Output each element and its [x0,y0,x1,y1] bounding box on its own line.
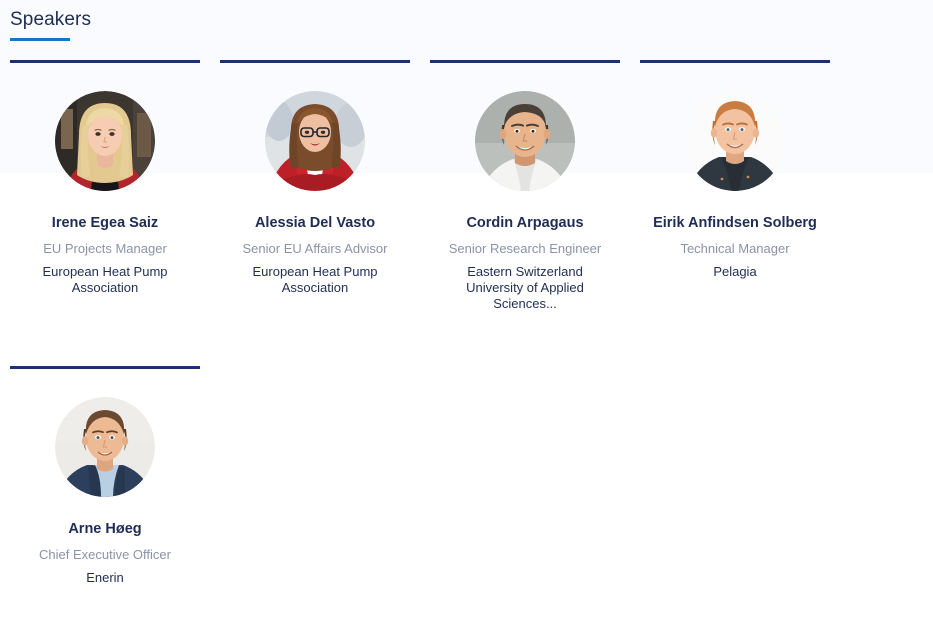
speaker-org: Eastern Switzerland University of Applie… [438,264,613,312]
speaker-org: European Heat Pump Association [228,264,403,296]
speaker-org: Pelagia [713,264,756,280]
speaker-card[interactable]: Alessia Del Vasto Senior EU Affairs Advi… [210,60,420,312]
speaker-org: European Heat Pump Association [18,264,193,296]
speaker-card[interactable]: Arne Høeg Chief Executive Officer Enerin [0,366,210,586]
speaker-grid: Irene Egea Saiz EU Projects Manager Euro… [0,60,933,640]
speaker-role: Senior Research Engineer [449,240,601,258]
title-accent-underline [10,38,70,41]
speaker-card[interactable]: Cordin Arpagaus Senior Research Engineer… [420,60,630,312]
speaker-role: Technical Manager [680,240,789,258]
speaker-role: Chief Executive Officer [39,546,171,564]
speaker-role: EU Projects Manager [43,240,167,258]
speaker-name: Arne Høeg [68,519,141,539]
avatar-arne-hoeg [55,397,155,497]
page-title: Speakers [10,8,310,32]
speakers-page: Speakers [0,0,933,633]
speaker-role: Senior EU Affairs Advisor [243,240,388,258]
avatar-irene-egea-saiz [55,91,155,191]
card-top-rule [220,60,410,63]
card-top-rule [10,60,200,63]
section-header: Speakers [10,8,310,41]
speaker-name: Alessia Del Vasto [255,213,375,233]
speaker-name: Eirik Anfindsen Solberg [653,213,817,233]
card-top-rule [430,60,620,63]
speaker-card[interactable]: Eirik Anfindsen Solberg Technical Manage… [630,60,840,312]
avatar-eirik-anfindsen-solberg [685,91,785,191]
speaker-name: Cordin Arpagaus [466,213,583,233]
avatar-alessia-del-vasto [265,91,365,191]
speaker-card[interactable]: Irene Egea Saiz EU Projects Manager Euro… [0,60,210,312]
card-top-rule [640,60,830,63]
card-top-rule [10,366,200,369]
avatar-cordin-arpagaus [475,91,575,191]
speaker-name: Irene Egea Saiz [52,213,158,233]
speaker-org: Enerin [86,570,124,586]
